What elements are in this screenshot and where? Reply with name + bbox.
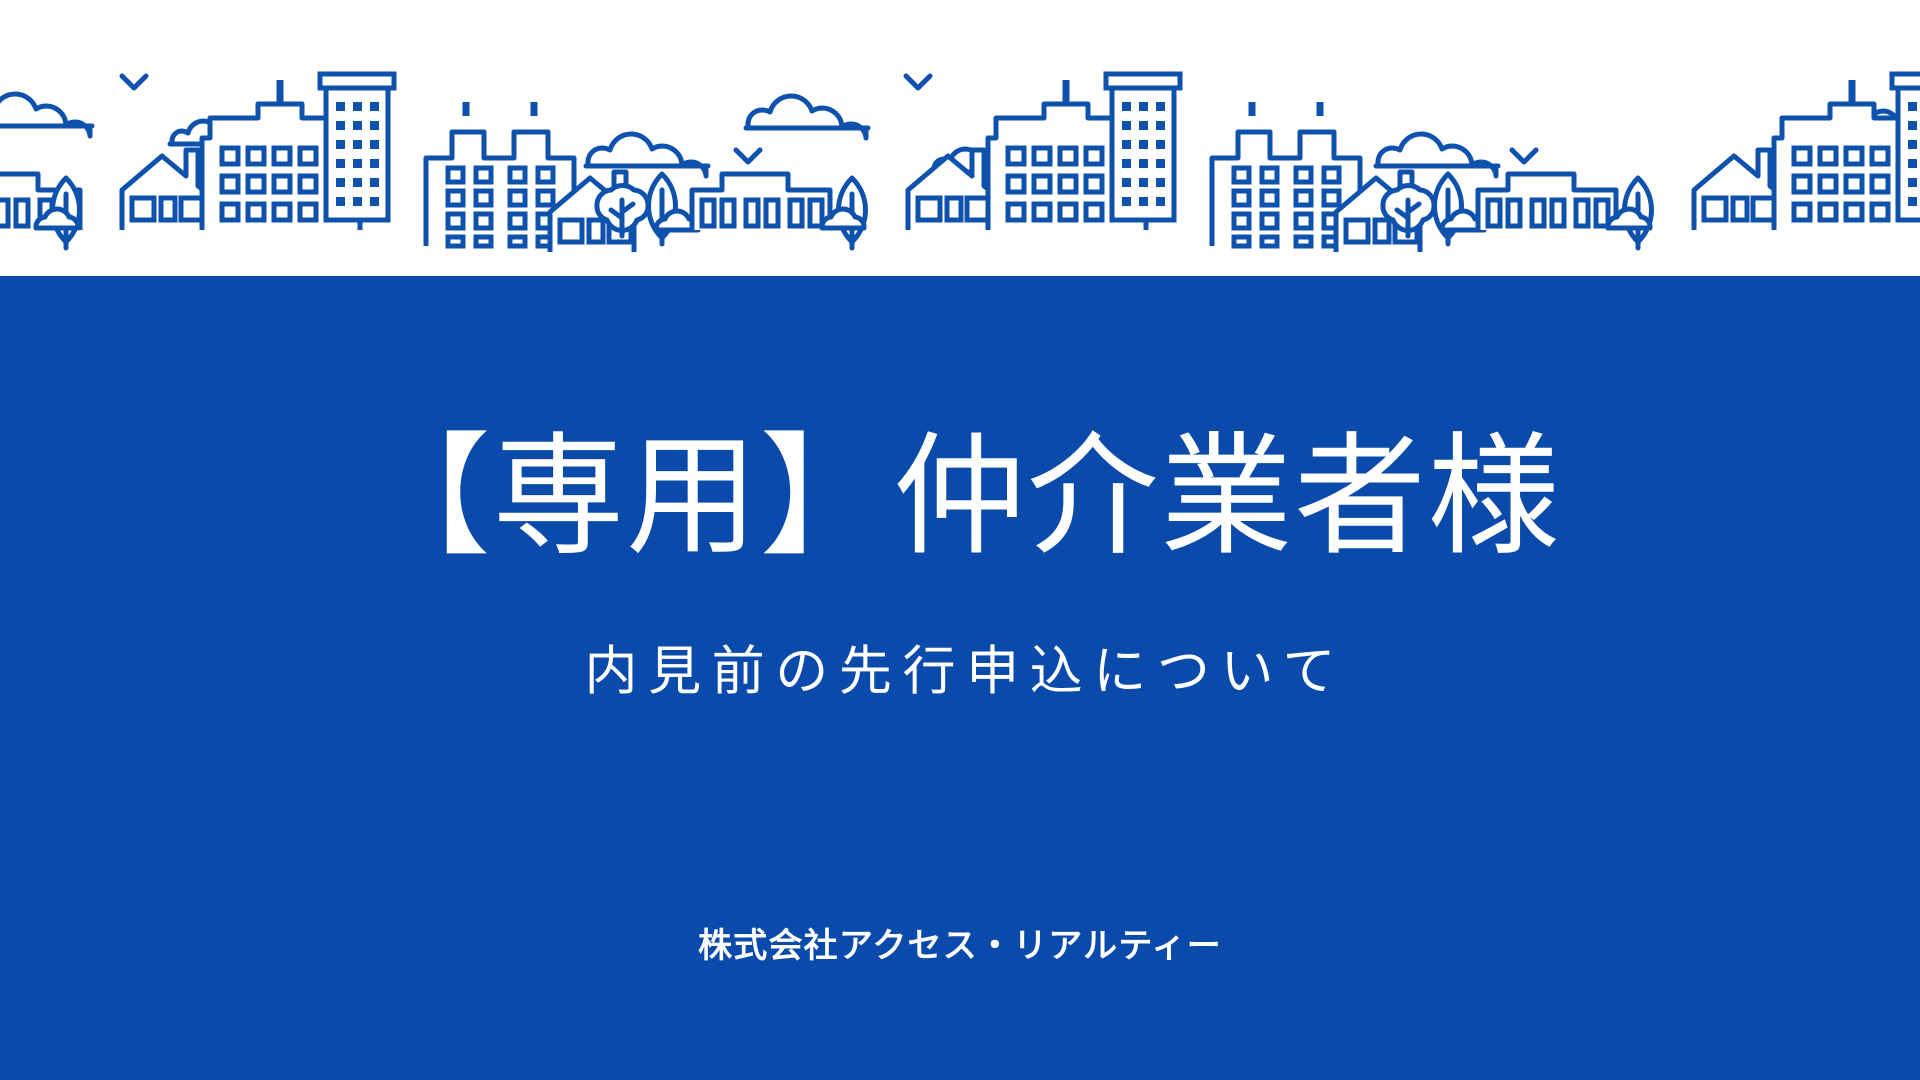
cityscape-svg <box>0 0 1920 288</box>
title-panel: 【専用】仲介業者様 内見前の先行申込について 株式会社アクセス・リアルティー <box>0 288 1920 1080</box>
ground-line <box>0 276 1920 288</box>
presentation-slide: 【専用】仲介業者様 内見前の先行申込について 株式会社アクセス・リアルティー <box>0 0 1920 1080</box>
company-name: 株式会社アクセス・リアルティー <box>0 926 1920 967</box>
page-subtitle: 内見前の先行申込について <box>0 640 1920 704</box>
page-title: 【専用】仲介業者様 <box>0 426 1920 569</box>
cityscape-illustration <box>0 0 1920 288</box>
